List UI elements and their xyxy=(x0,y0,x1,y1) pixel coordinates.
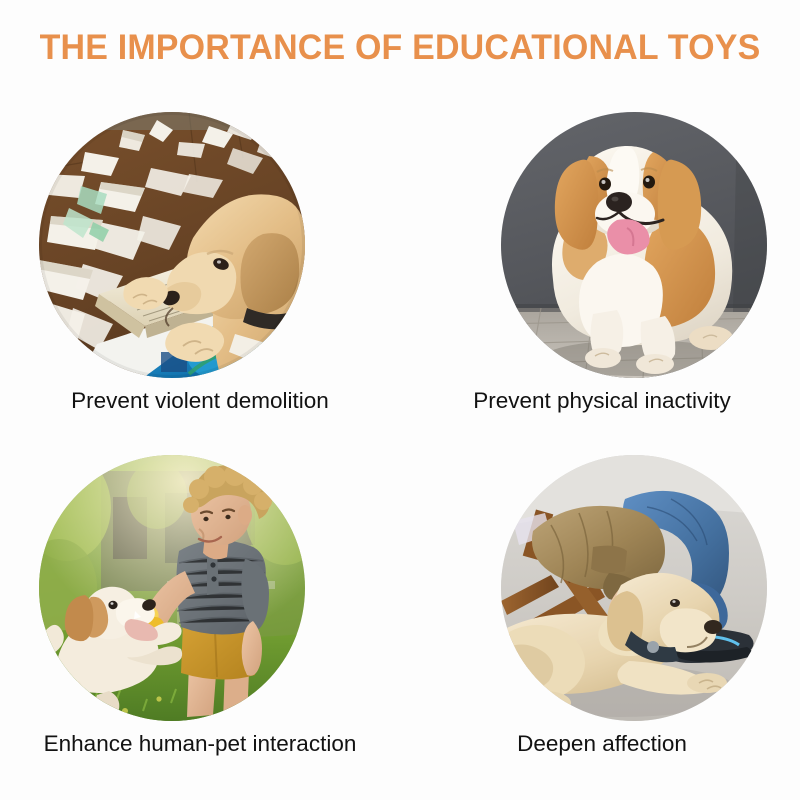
panel-grid: Prevent violent demolition xyxy=(0,100,800,800)
panel-prevent-violent-demolition: Prevent violent demolition xyxy=(0,100,400,445)
dog-shredding-book-photo xyxy=(39,112,305,378)
person-petting-labrador-photo xyxy=(501,455,767,721)
circle-frame xyxy=(501,112,767,378)
circle-frame xyxy=(39,112,305,378)
circle-frame xyxy=(501,455,767,721)
panel-caption: Enhance human-pet interaction xyxy=(0,731,442,757)
panel-deepen-affection: Deepen affection xyxy=(400,443,800,788)
panel-enhance-human-pet-interaction: Enhance human-pet interaction xyxy=(0,443,400,788)
circle-frame xyxy=(39,455,305,721)
panel-caption: Deepen affection xyxy=(400,731,800,757)
panel-caption: Prevent physical inactivity xyxy=(400,388,800,414)
overweight-beagle-photo xyxy=(501,112,767,378)
boy-playing-with-puppy-photo xyxy=(39,455,305,721)
page-title: THE IMPORTANCE OF EDUCATIONAL TOYS xyxy=(12,28,788,68)
poster-root: THE IMPORTANCE OF EDUCATIONAL TOYS xyxy=(0,0,800,800)
panel-caption: Prevent violent demolition xyxy=(0,388,422,414)
panel-prevent-physical-inactivity: Prevent physical inactivity xyxy=(400,100,800,445)
